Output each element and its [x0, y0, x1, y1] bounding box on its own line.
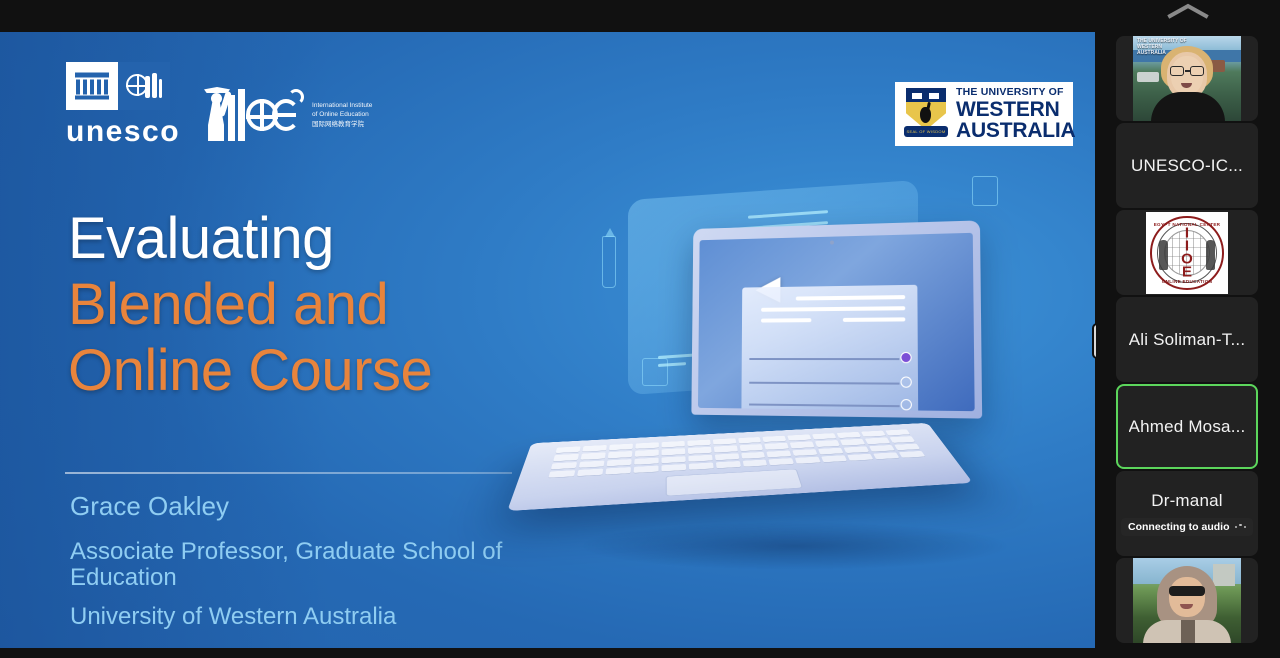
uwa-logo: SEAL OF WISDOM THE UNIVERSITY OF WESTERN…: [895, 82, 1073, 146]
iioe-caption-line3: 国际网络教育学院: [312, 120, 372, 129]
uwa-line-2: WESTERN: [956, 99, 1076, 120]
presentation-slide: unesco Internationa: [0, 32, 1095, 648]
iioe-caption: International Institute of Online Educat…: [312, 101, 372, 129]
presenter-role: Associate Professor, Graduate School of …: [70, 539, 590, 592]
participant-tile-7[interactable]: [1116, 558, 1258, 643]
audio-status-text: Connecting to audio: [1128, 521, 1230, 533]
participant-tile-4[interactable]: Ali Soliman-T...: [1116, 297, 1258, 382]
pencil-icon: [602, 236, 616, 288]
radio-icon-2: [900, 376, 911, 387]
laptop-screen: [698, 233, 975, 411]
mini-card-icon-1: [972, 176, 998, 206]
participant-tile-2[interactable]: UNESCO-IC...: [1116, 123, 1258, 208]
title-line-1: Evaluating: [68, 210, 432, 268]
participant-tiles: THE UNIVERSITY OFWESTERNAUSTRALIA UNESCO…: [1116, 36, 1258, 645]
chevron-up-icon[interactable]: [1159, 0, 1217, 22]
laptop-shadow: [580, 522, 1010, 570]
uwa-line-3: AUSTRALIA: [956, 120, 1076, 141]
audio-status-badge: Connecting to audio: [1121, 518, 1253, 536]
slide-logo-group: unesco Internationa: [66, 62, 372, 147]
title-divider: [65, 472, 512, 474]
presenter-block: Grace Oakley Associate Professor, Gradua…: [70, 490, 590, 632]
webcam-image: THE UNIVERSITY OFWESTERNAUSTRALIA: [1133, 36, 1241, 121]
uwa-motto: SEAL OF WISDOM: [904, 126, 948, 137]
participant-name: Ali Soliman-T...: [1129, 330, 1246, 350]
laptop-lid: [691, 220, 982, 418]
trackpad: [666, 469, 803, 497]
participant-name: Ahmed Mosa...: [1129, 417, 1246, 437]
keyboard: [548, 429, 925, 478]
participant-name: UNESCO-IC...: [1131, 156, 1243, 176]
participant-tile-1[interactable]: THE UNIVERSITY OFWESTERNAUSTRALIA: [1116, 36, 1258, 121]
shared-screen-stage[interactable]: unesco Internationa: [0, 32, 1095, 648]
laptop-illustration: [520, 162, 1080, 632]
presenter-organisation: University of Western Australia: [70, 603, 590, 632]
iioe-caption-line1: International Institute: [312, 101, 372, 110]
radio-selected-icon: [900, 352, 911, 363]
radio-icon-3: [901, 399, 912, 410]
greek-temple-icon: [75, 73, 109, 100]
slide-title: Evaluating Blended and Online Course: [68, 210, 432, 400]
participant-tile-5-active-speaker[interactable]: Ahmed Mosa...: [1116, 384, 1258, 469]
participant-tile-3[interactable]: EGYPT NATIONAL CENTER IIOE ONLINE EDUCAT…: [1116, 210, 1258, 295]
uwa-crest-icon: SEAL OF WISDOM: [904, 88, 948, 140]
unesco-wordmark: unesco: [66, 117, 180, 147]
video-feed: [1116, 558, 1258, 643]
uwa-watermark: THE UNIVERSITY OFWESTERNAUSTRALIA: [1137, 39, 1187, 56]
participant-name: Dr-manal: [1151, 491, 1223, 511]
loading-dots-icon: [1235, 526, 1247, 529]
unesco-logo: unesco: [66, 62, 180, 147]
video-conference-window: unesco Internationa: [0, 0, 1280, 658]
uwa-wordmark: THE UNIVERSITY OF WESTERN AUSTRALIA: [956, 87, 1076, 141]
webcam-image: [1133, 558, 1241, 643]
title-line-3: Online Course: [68, 342, 432, 400]
quiz-card: [741, 285, 918, 411]
iioe-caption-line2: of Online Education: [312, 110, 372, 119]
iioe-emblem-icon: [202, 85, 306, 145]
iioe-egypt-seal-icon: EGYPT NATIONAL CENTER IIOE ONLINE EDUCAT…: [1146, 212, 1228, 294]
webcam-dot-icon: [830, 241, 834, 245]
globe-people-icon: [126, 72, 162, 100]
video-feed: THE UNIVERSITY OFWESTERNAUSTRALIA: [1116, 36, 1258, 121]
uwa-line-1: THE UNIVERSITY OF: [956, 87, 1076, 98]
laptop-base: [507, 423, 973, 511]
title-line-2: Blended and: [68, 276, 432, 334]
participant-sidebar: THE UNIVERSITY OFWESTERNAUSTRALIA UNESCO…: [1096, 0, 1280, 658]
iioe-logo: International Institute of Online Educat…: [202, 83, 372, 147]
unesco-emblem-icon: [66, 62, 170, 110]
participant-tile-6[interactable]: Dr-manal Connecting to audio: [1116, 471, 1258, 556]
